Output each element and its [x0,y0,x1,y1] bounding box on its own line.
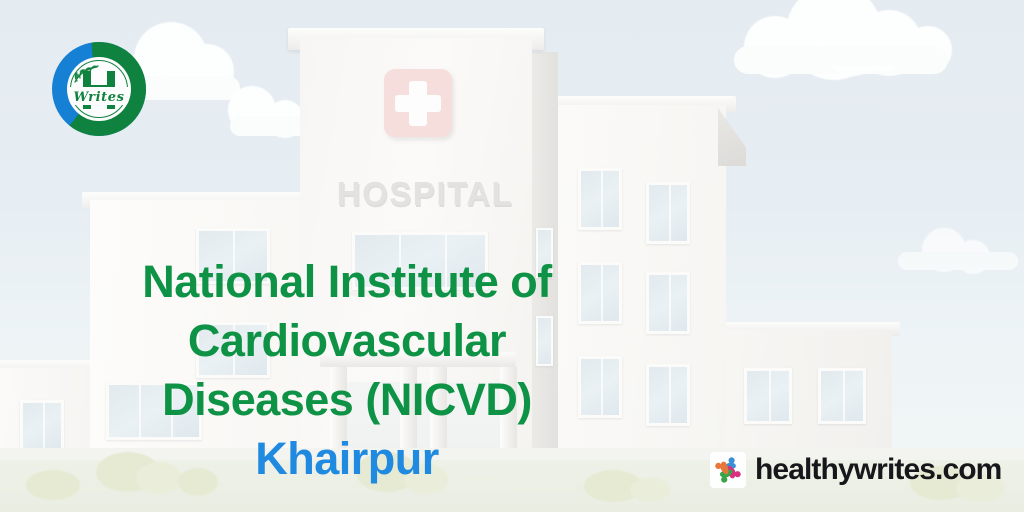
window [744,368,792,424]
cloud-top-right [728,0,958,76]
cloud-far-right [862,6,982,68]
cloud-right-low [898,228,1024,270]
hospital-signage-text: HOSPITAL [334,175,516,213]
page-title-line-1: National Institute of [22,252,672,311]
site-brand[interactable]: healthywrites.com [710,452,1001,488]
page-title-line-2: Cardiovascular [22,311,672,370]
logo-script-text: Writes [67,90,131,105]
page-title-location: Khairpur [22,429,672,488]
logo-leaf-icon [71,63,101,87]
window [578,168,622,230]
right-wing-edge [718,108,746,166]
window [818,368,866,424]
logo-inner-disc: Writes [67,57,131,121]
page-title-line-3: Diseases (NICVD) [22,370,672,429]
page-title: National Institute of Cardiovascular Dis… [22,252,672,488]
medical-cross-icon [384,69,452,137]
brand-logo[interactable]: Writes [52,42,146,136]
four-people-pinwheel-icon [710,452,746,488]
site-domain-text: healthywrites.com [755,453,1001,487]
promo-banner: HOSPITAL [0,0,1024,512]
window [646,182,690,244]
